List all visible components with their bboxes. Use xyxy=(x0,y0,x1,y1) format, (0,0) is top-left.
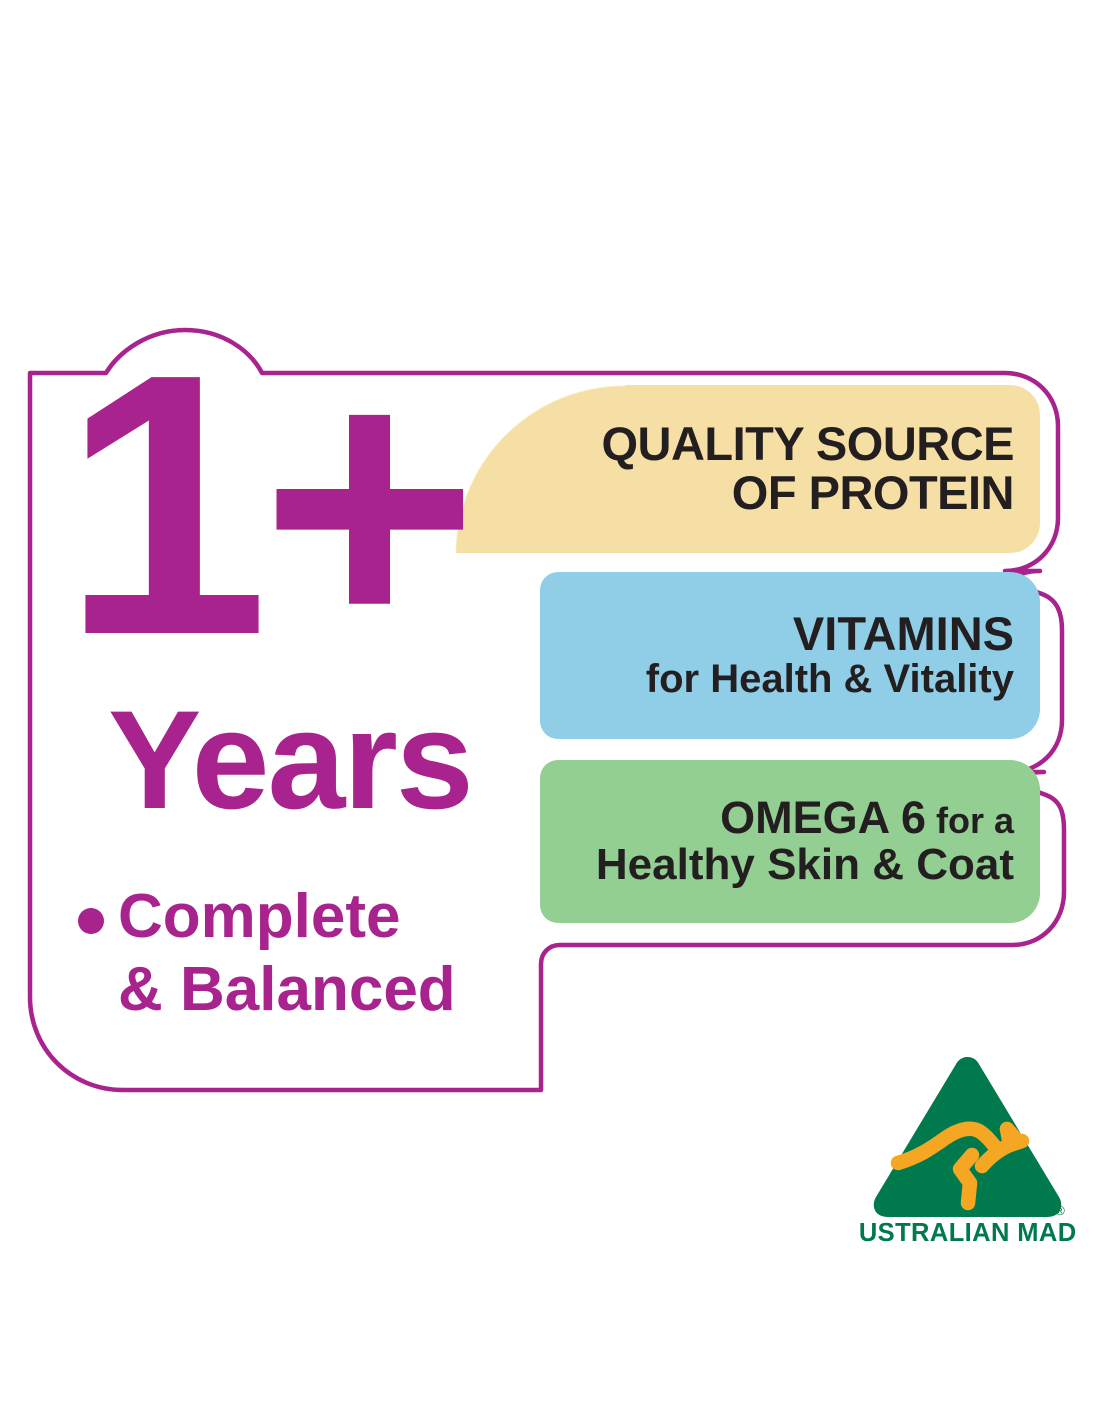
benefit-band-omega: OMEGA 6 for a Healthy Skin & Coat xyxy=(540,760,1040,923)
claim-text: Complete & Balanced xyxy=(118,880,456,1026)
benefit-vitamins-line2: for Health & Vitality xyxy=(646,659,1014,701)
benefit-vitamins-line1: VITAMINS xyxy=(646,610,1014,659)
benefit-omega-line2: Healthy Skin & Coat xyxy=(596,842,1014,888)
claim-line2: & Balanced xyxy=(118,955,456,1024)
benefit-omega-line1: OMEGA 6 for a xyxy=(596,795,1014,842)
benefit-omega-line1-strong: OMEGA 6 xyxy=(720,792,926,843)
australian-made-logo: ® AUSTRALIAN MADE xyxy=(860,1045,1075,1245)
pet-food-benefits-panel: QUALITY SOURCE OF PROTEIN VITAMINS for H… xyxy=(0,0,1100,1422)
age-unit-label: Years xyxy=(108,690,472,830)
benefit-band-vitamins: VITAMINS for Health & Vitality xyxy=(540,572,1040,739)
benefit-protein-text: QUALITY SOURCE OF PROTEIN xyxy=(601,420,1040,518)
australian-made-label: AUSTRALIAN MADE xyxy=(860,1219,1075,1245)
age-badge: 1+ Years Complete & Balanced xyxy=(0,0,545,1100)
benefit-protein-line1: QUALITY SOURCE xyxy=(601,420,1014,469)
benefit-vitamins-text: VITAMINS for Health & Vitality xyxy=(646,610,1040,700)
age-number: 1+ xyxy=(62,345,470,665)
claim-line1: Complete xyxy=(118,882,400,951)
registered-mark: ® xyxy=(1055,1203,1065,1218)
benefit-protein-line2: OF PROTEIN xyxy=(601,469,1014,518)
benefit-omega-text: OMEGA 6 for a Healthy Skin & Coat xyxy=(596,795,1040,888)
complete-balanced-claim: Complete & Balanced xyxy=(78,880,508,1026)
benefit-omega-line1-small: for a xyxy=(926,800,1014,841)
bullet-dot-icon xyxy=(78,908,104,934)
